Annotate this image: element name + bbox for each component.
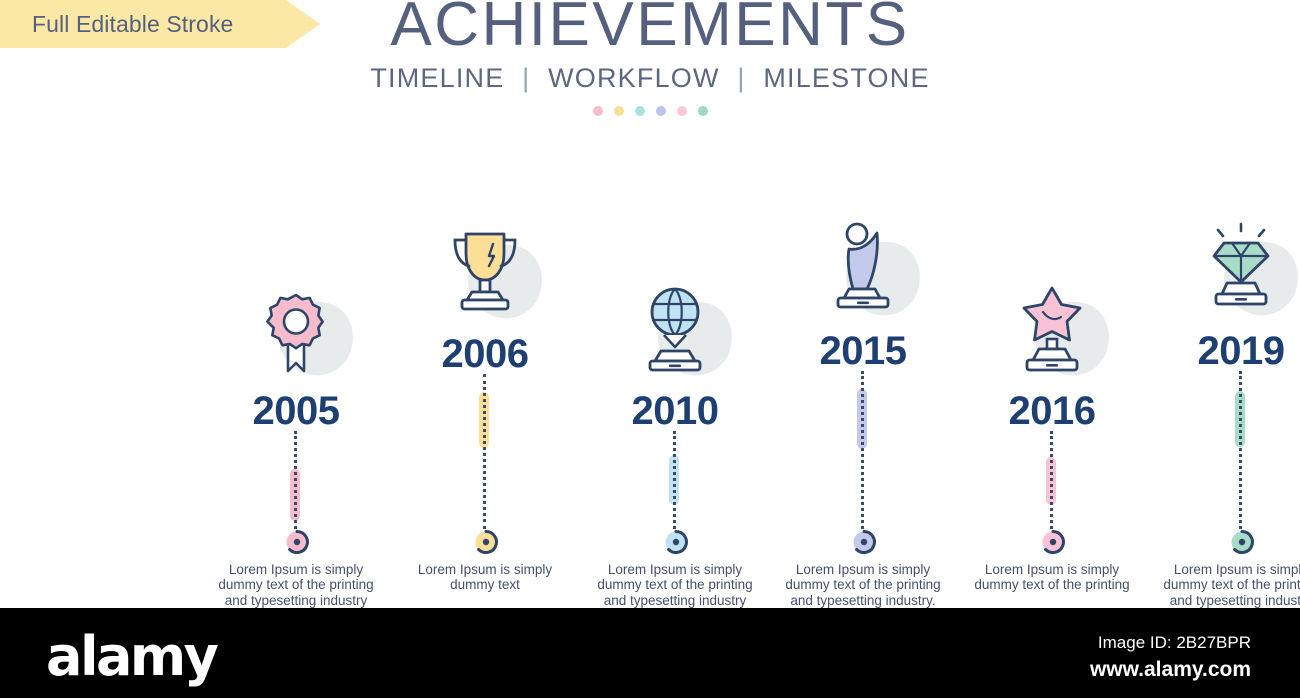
milestone-icon-wrap (580, 257, 770, 377)
alamy-url-label: www.alamy.com (931, 658, 1251, 682)
decorative-dot-1 (593, 106, 603, 116)
decorative-dot-5 (677, 106, 687, 116)
milestone-stem-dots (294, 431, 297, 529)
milestone-description: Lorem Ipsum is simply dummy text (390, 562, 580, 593)
subtitle-separator-1: | (513, 63, 539, 93)
page-title: ACHIEVEMENTS (0, 0, 1300, 57)
decorative-dot-4 (656, 106, 666, 116)
milestone-year: 2015 (768, 331, 958, 371)
figure-statuette-trophy-icon (827, 221, 899, 317)
milestone-stem-dots (673, 431, 676, 529)
milestone-2010[interactable]: 2010Lorem Ipsum is simply dummy text of … (580, 257, 770, 608)
image-id-label: Image ID: 2B27BPR (931, 633, 1251, 653)
decorative-dot-3 (635, 106, 645, 116)
milestone-year: 2005 (201, 391, 391, 431)
star-trophy-icon (1016, 285, 1088, 377)
milestone-year: 2006 (390, 334, 580, 374)
milestone-stem (1235, 371, 1247, 529)
subtitle-part-timeline: TIMELINE (370, 63, 504, 93)
milestone-icon-wrap (957, 257, 1147, 377)
subtitle-part-workflow: WORKFLOW (548, 63, 720, 93)
milestone-icon-wrap (390, 200, 580, 320)
milestone-stem (1046, 431, 1058, 529)
milestone-icon-wrap (1146, 197, 1300, 317)
milestone-node[interactable] (851, 529, 875, 553)
milestone-node[interactable] (473, 529, 497, 553)
decorative-dot-6 (698, 106, 708, 116)
milestone-2015[interactable]: 2015Lorem Ipsum is simply dummy text of … (768, 197, 958, 624)
milestone-node[interactable] (663, 529, 687, 553)
milestone-node[interactable] (1229, 529, 1253, 553)
timeline: 2005Lorem Ipsum is simply dummy text of … (0, 195, 1300, 615)
milestone-description: Lorem Ipsum is simply dummy text of the … (580, 562, 770, 608)
alamy-logo: alamy (46, 630, 216, 684)
milestone-description: Lorem Ipsum is simply dummy text of the … (957, 562, 1147, 593)
header: ACHIEVEMENTS TIMELINE | WORKFLOW | MILES… (0, 0, 1300, 116)
milestone-description: Lorem Ipsum is simply dummy text of the … (201, 562, 391, 608)
subtitle-part-milestone: MILESTONE (763, 63, 929, 93)
milestone-year: 2019 (1146, 331, 1300, 371)
milestone-stem (479, 374, 491, 529)
award-ribbon-rosette-icon (264, 291, 328, 377)
watermark-footer: alamy Image ID: 2B27BPR www.alamy.com (0, 608, 1300, 698)
milestone-2005[interactable]: 2005Lorem Ipsum is simply dummy text of … (201, 257, 391, 608)
milestone-2006[interactable]: 2006Lorem Ipsum is simply dummy text (390, 200, 580, 593)
globe-sphere-trophy-icon (639, 285, 711, 377)
milestone-stem (290, 431, 302, 529)
milestone-stem-dots (1239, 371, 1242, 529)
milestone-stem (669, 431, 681, 529)
milestone-icon-wrap (768, 197, 958, 317)
milestone-icon-wrap (201, 257, 391, 377)
subtitle-separator-2: | (728, 63, 754, 93)
decorative-dot-row (0, 106, 1300, 116)
milestone-year: 2016 (957, 391, 1147, 431)
milestone-description: Lorem Ipsum is simply dummy text of the … (1146, 562, 1300, 608)
trophy-cup-icon (446, 224, 524, 320)
milestone-year: 2010 (580, 391, 770, 431)
decorative-dot-2 (614, 106, 624, 116)
milestone-2016[interactable]: 2016Lorem Ipsum is simply dummy text of … (957, 257, 1147, 593)
diamond-trophy-icon (1203, 221, 1279, 317)
milestone-stem-dots (861, 371, 864, 529)
milestone-stem-dots (1050, 431, 1053, 529)
subtitle: TIMELINE | WORKFLOW | MILESTONE (0, 63, 1300, 94)
milestone-node[interactable] (1040, 529, 1064, 553)
milestone-2019[interactable]: 2019Lorem Ipsum is simply dummy text of … (1146, 197, 1300, 608)
milestone-stem (857, 371, 869, 529)
milestone-node[interactable] (284, 529, 308, 553)
milestone-stem-dots (483, 374, 486, 529)
